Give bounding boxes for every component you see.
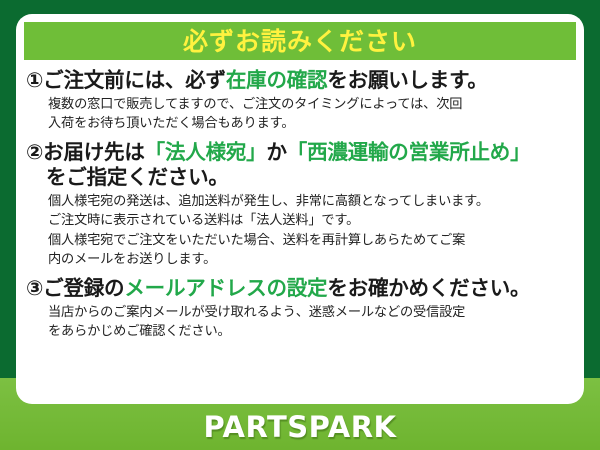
notice-item-body-line: 個人様宅宛でご注文をいただいた場合、送料を再計算しあらためてご案 bbox=[48, 231, 578, 250]
notice-item-body-line: 複数の窓口で販売してますので、ご注文のタイミングによっては、次回 bbox=[48, 95, 578, 114]
brand-footer: PARTSPARK bbox=[0, 410, 600, 444]
highlight-text: 在庫の確認 bbox=[226, 68, 328, 92]
notice-item-heading-line2: をご指定ください。 bbox=[26, 165, 578, 190]
notice-card: 必ずお読みください ①ご注文前には、必ず在庫の確認をお願いします。複数の窓口で販… bbox=[0, 0, 600, 450]
notice-item: ①ご注文前には、必ず在庫の確認をお願いします。複数の窓口で販売してますので、ご注… bbox=[26, 68, 578, 133]
highlight-text: 「西濃運輸の営業所止め」 bbox=[287, 140, 531, 164]
notice-item-body-line: をあらかじめご確認ください。 bbox=[48, 322, 578, 341]
notice-item-body: 個人様宅宛の発送は、追加送料が発生し、非常に高額となってしまいます。ご注文時に表… bbox=[26, 190, 578, 269]
title-banner: 必ずお読みください bbox=[24, 22, 576, 60]
notice-item-heading: ①ご注文前には、必ず在庫の確認をお願いします。 bbox=[26, 68, 578, 93]
heading-text: ③ご登録の bbox=[26, 276, 124, 300]
notice-item: ③ご登録のメールアドレスの設定をお確かめください。当店からのご案内メールが受け取… bbox=[26, 276, 578, 341]
notice-item-heading: ②お届け先は「法人様宛」か「西濃運輸の営業所止め」 bbox=[26, 140, 578, 165]
notice-items: ①ご注文前には、必ず在庫の確認をお願いします。複数の窓口で販売してますので、ご注… bbox=[26, 68, 578, 348]
brand-name: PARTSPARK bbox=[203, 410, 396, 444]
notice-item-heading: ③ご登録のメールアドレスの設定をお確かめください。 bbox=[26, 276, 578, 301]
highlight-text: 「法人様宛」 bbox=[145, 140, 267, 164]
heading-text: をお確かめください。 bbox=[327, 276, 530, 300]
notice-item-body: 当店からのご案内メールが受け取れるよう、迷惑メールなどの受信設定をあらかじめご確… bbox=[26, 301, 578, 341]
highlight-text: メールアドレスの設定 bbox=[124, 276, 327, 300]
notice-item-body-line: 当店からのご案内メールが受け取れるよう、迷惑メールなどの受信設定 bbox=[48, 303, 578, 322]
heading-text: か bbox=[266, 140, 286, 164]
notice-title: 必ずお読みください bbox=[183, 29, 417, 54]
notice-item-body-line: ご注文時に表示されている送料は「法人送料」です。 bbox=[48, 211, 578, 230]
notice-item-body-line: 入荷をお待ち頂いただく場合もあります。 bbox=[48, 114, 578, 133]
notice-item: ②お届け先は「法人様宛」か「西濃運輸の営業所止め」をご指定ください。個人様宅宛の… bbox=[26, 140, 578, 269]
notice-item-body-line: 個人様宅宛の発送は、追加送料が発生し、非常に高額となってしまいます。 bbox=[48, 192, 578, 211]
notice-item-body-line: 内のメールをお送りします。 bbox=[48, 250, 578, 269]
heading-text: をお願いします。 bbox=[327, 68, 487, 92]
notice-panel: 必ずお読みください ①ご注文前には、必ず在庫の確認をお願いします。複数の窓口で販… bbox=[16, 14, 584, 404]
heading-text: ①ご注文前には、必ず bbox=[26, 68, 226, 92]
heading-text: ②お届け先は bbox=[26, 140, 145, 164]
notice-item-body: 複数の窓口で販売してますので、ご注文のタイミングによっては、次回入荷をお待ち頂い… bbox=[26, 93, 578, 133]
